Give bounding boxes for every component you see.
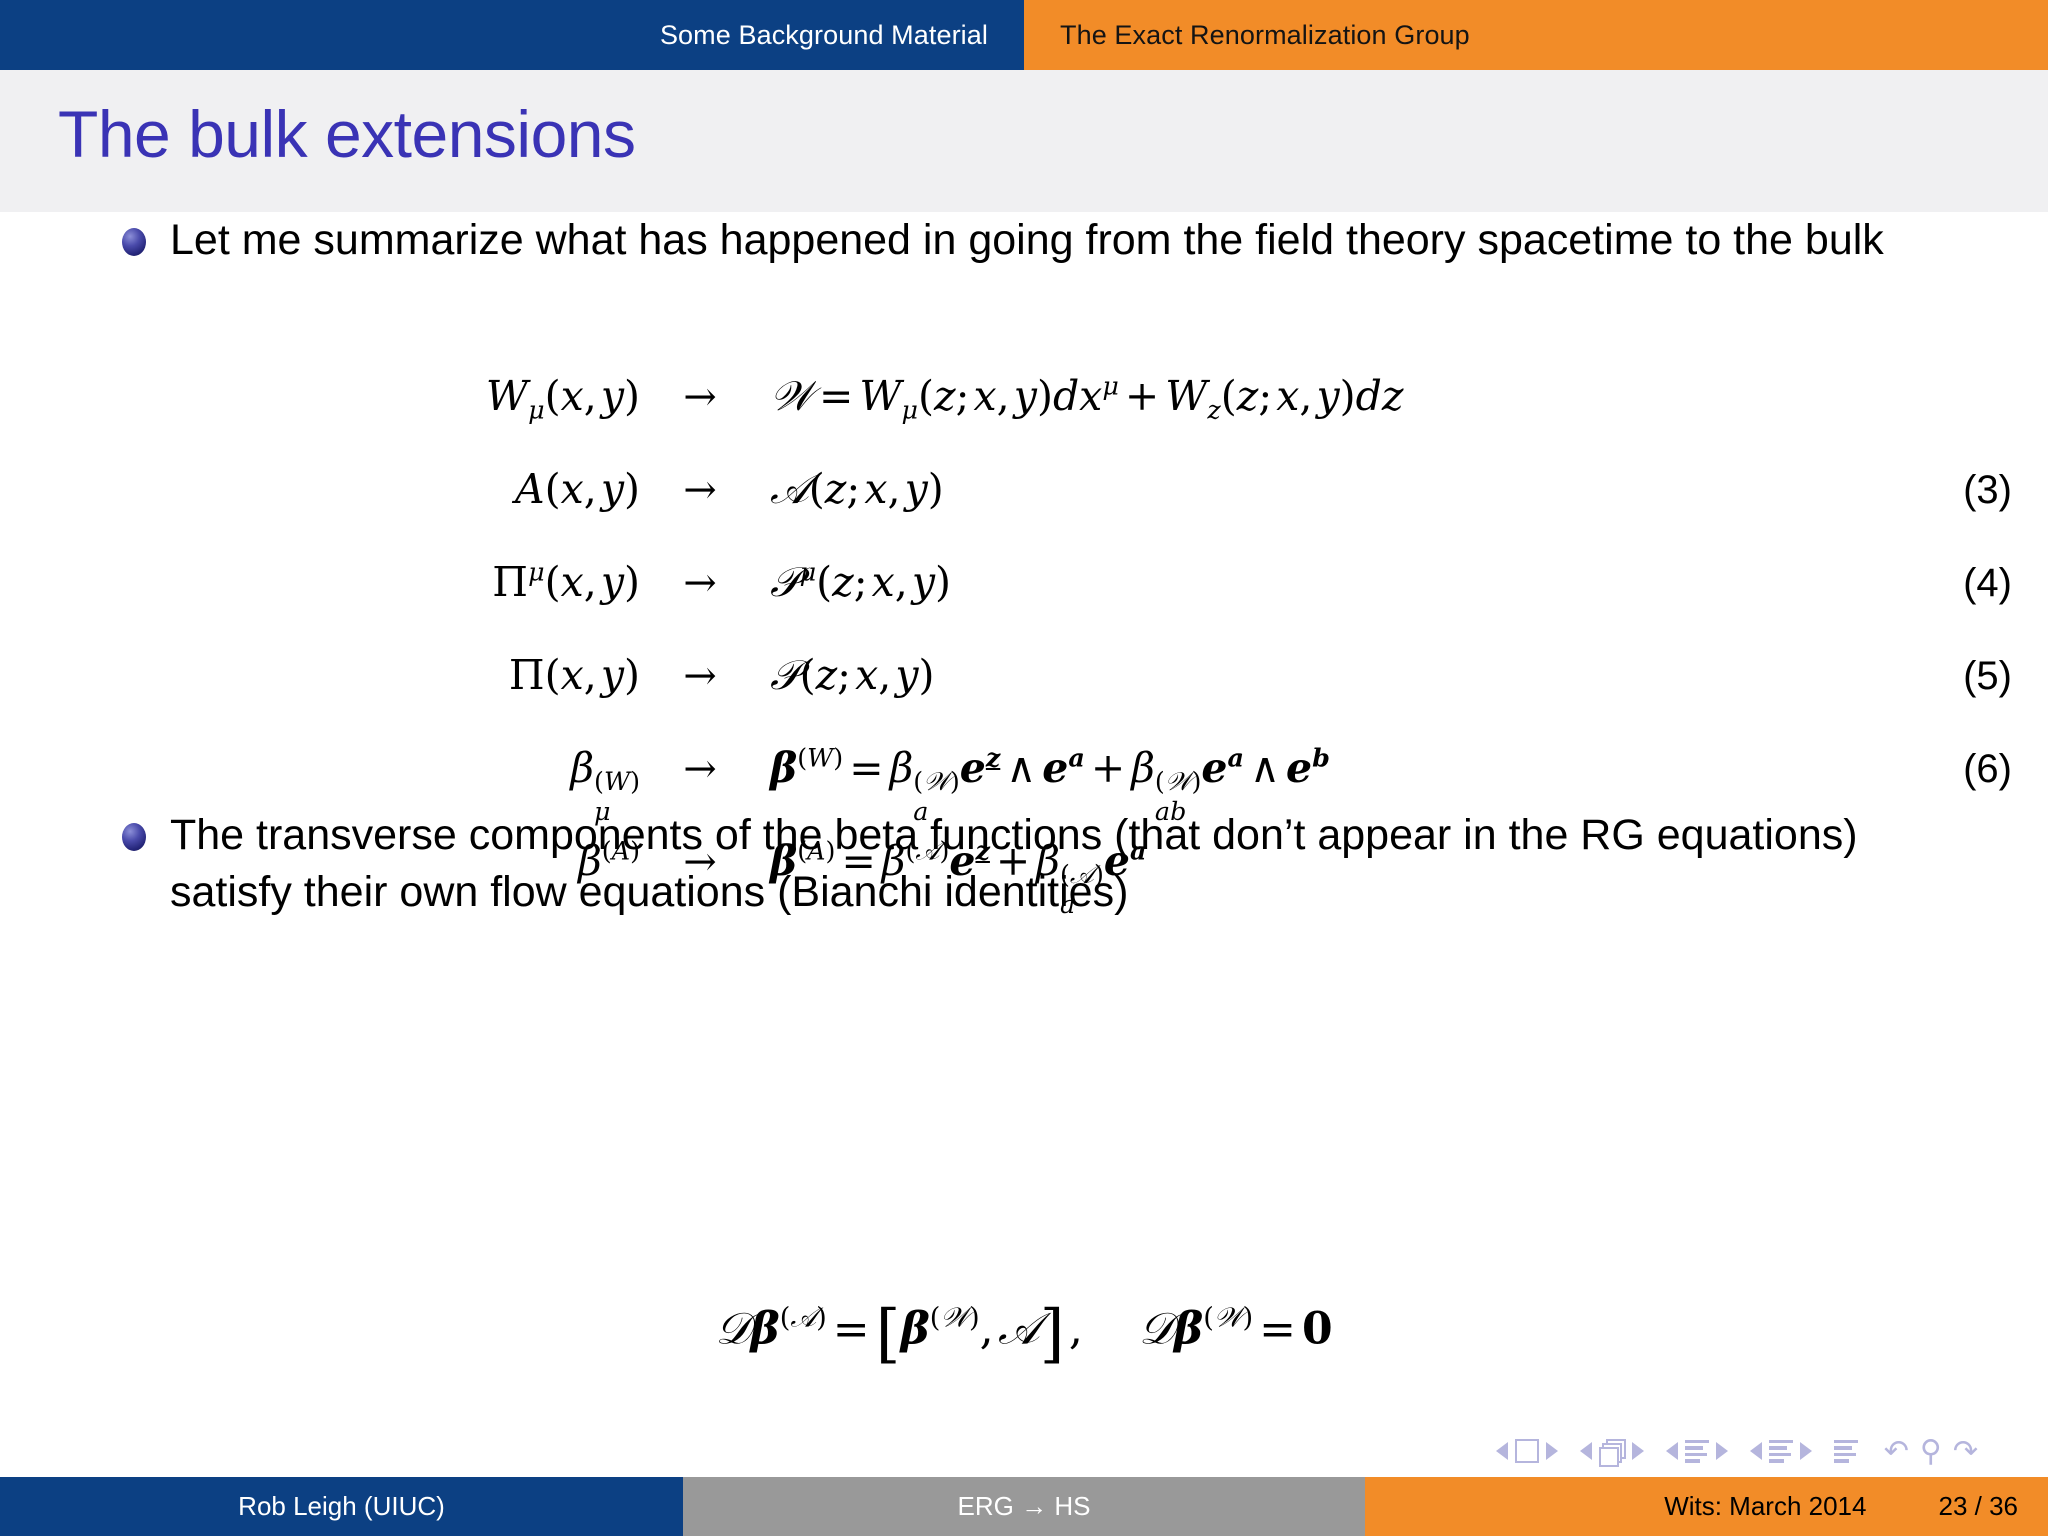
title-band: The bulk extensions — [0, 70, 2048, 212]
equation-row-4-rhs: 𝒫(z; x, y) — [760, 651, 1852, 700]
equation-row-2-lhs: A(x, y) — [0, 465, 640, 513]
frames-stack-icon[interactable] — [1599, 1439, 1625, 1463]
document-lines-icon[interactable] — [1834, 1440, 1858, 1463]
document-navigation-group — [1834, 1440, 1858, 1463]
previous-section-icon[interactable] — [1750, 1442, 1762, 1460]
nav-tab-label: The Exact Renormalization Group — [1060, 20, 1470, 51]
bullet-item-2: The transverse components of the beta fu… — [122, 807, 1910, 921]
bullet-ball-icon — [122, 823, 148, 853]
footer-title-section: ERG → HS — [683, 1477, 1365, 1536]
equation-row-2-number: (3) — [1852, 468, 2048, 513]
previous-frame-icon[interactable] — [1580, 1442, 1592, 1460]
search-icon[interactable]: ⚲ — [1920, 1434, 1942, 1469]
bullet-item-2-text: The transverse components of the beta fu… — [170, 807, 1910, 921]
top-navigation-bar: Some Background Material The Exact Renor… — [0, 0, 2048, 70]
equation-row-4-arrow: → — [640, 653, 760, 699]
equation-row-5-number: (6) — [1852, 747, 2048, 792]
bullet-item-1-text: Let me summarize what has happened in go… — [170, 212, 1884, 269]
subsection-lines-icon[interactable] — [1685, 1440, 1709, 1463]
nav-tab-label: Some Background Material — [660, 20, 988, 51]
slide-box-icon[interactable] — [1515, 1439, 1539, 1463]
bullet-item-1: Let me summarize what has happened in go… — [122, 212, 1884, 269]
nav-tab-the-exact-renormalization-group[interactable]: The Exact Renormalization Group — [1024, 0, 2048, 70]
equation-row-3-number: (4) — [1852, 561, 2048, 606]
equation-row-1-arrow: → — [640, 374, 760, 420]
equation-row-2-arrow: → — [640, 467, 760, 513]
section-lines-icon[interactable] — [1769, 1440, 1793, 1463]
footer-short-title: ERG → HS — [958, 1491, 1091, 1522]
equation-row-2: A(x, y) → 𝒜(z; x, y) (3) — [0, 465, 2048, 558]
equation-row-3-rhs: 𝒫μ(z; x, y) — [760, 558, 1852, 607]
equation-row-1-lhs: Wμ(x, y) — [0, 372, 640, 420]
equation-row-2-rhs: 𝒜(z; x, y) — [760, 465, 1852, 514]
footer-bar: Rob Leigh (UIUC) ERG → HS Wits: March 20… — [0, 1477, 2048, 1536]
section-navigation-group — [1750, 1440, 1812, 1463]
footer-author: Rob Leigh (UIUC) — [238, 1491, 445, 1522]
equation-row-3-lhs: Πμ(x, y) — [0, 558, 640, 606]
equation-row-1-rhs: 𝒲=Wμ(z; x, y)dxμ+Wz(z; x, y)dz — [760, 372, 1852, 421]
next-frame-icon[interactable] — [1632, 1442, 1644, 1460]
footer-page-number: 23 / 36 — [1938, 1491, 2018, 1522]
equation-row-5-arrow: → — [640, 746, 760, 792]
equation-row-4-lhs: Π(x, y) — [0, 651, 640, 699]
bullet-ball-icon — [122, 228, 148, 258]
previous-subsection-icon[interactable] — [1666, 1442, 1678, 1460]
equation-row-1: Wμ(x, y) → 𝒲=Wμ(z; x, y)dxμ+Wz(z; x, y)d… — [0, 372, 2048, 465]
forward-arrow-icon[interactable]: ↷ — [1953, 1434, 1978, 1469]
page-title: The bulk extensions — [58, 96, 636, 172]
frame-navigation-group — [1580, 1439, 1644, 1463]
next-slide-icon[interactable] — [1546, 1442, 1558, 1460]
slide-navigation-group — [1496, 1439, 1558, 1463]
equation-row-3-arrow: → — [640, 560, 760, 606]
subsection-navigation-group — [1666, 1440, 1728, 1463]
footer-author-section: Rob Leigh (UIUC) — [0, 1477, 683, 1536]
next-subsection-icon[interactable] — [1716, 1442, 1728, 1460]
final-equation: 𝒟β(𝒜)=[β(𝒲), 𝒜] ,𝒟β(𝒲)=0 — [0, 1297, 2048, 1371]
beamer-navigation-symbols: ↶ ⚲ ↷ — [1300, 1428, 2000, 1474]
slide-body: Let me summarize what has happened in go… — [0, 212, 2048, 1475]
back-arrow-icon[interactable]: ↶ — [1884, 1434, 1909, 1469]
footer-venue-section: Wits: March 2014 23 / 36 — [1365, 1477, 2048, 1536]
equation-row-4-number: (5) — [1852, 654, 2048, 699]
previous-slide-icon[interactable] — [1496, 1442, 1508, 1460]
next-section-icon[interactable] — [1800, 1442, 1812, 1460]
equation-row-3: Πμ(x, y) → 𝒫μ(z; x, y) (4) — [0, 558, 2048, 651]
equation-row-4: Π(x, y) → 𝒫(z; x, y) (5) — [0, 651, 2048, 744]
history-navigation-group: ↶ ⚲ ↷ — [1880, 1434, 1978, 1469]
footer-venue: Wits: March 2014 — [1664, 1491, 1866, 1522]
nav-tab-some-background-material[interactable]: Some Background Material — [0, 0, 1024, 70]
